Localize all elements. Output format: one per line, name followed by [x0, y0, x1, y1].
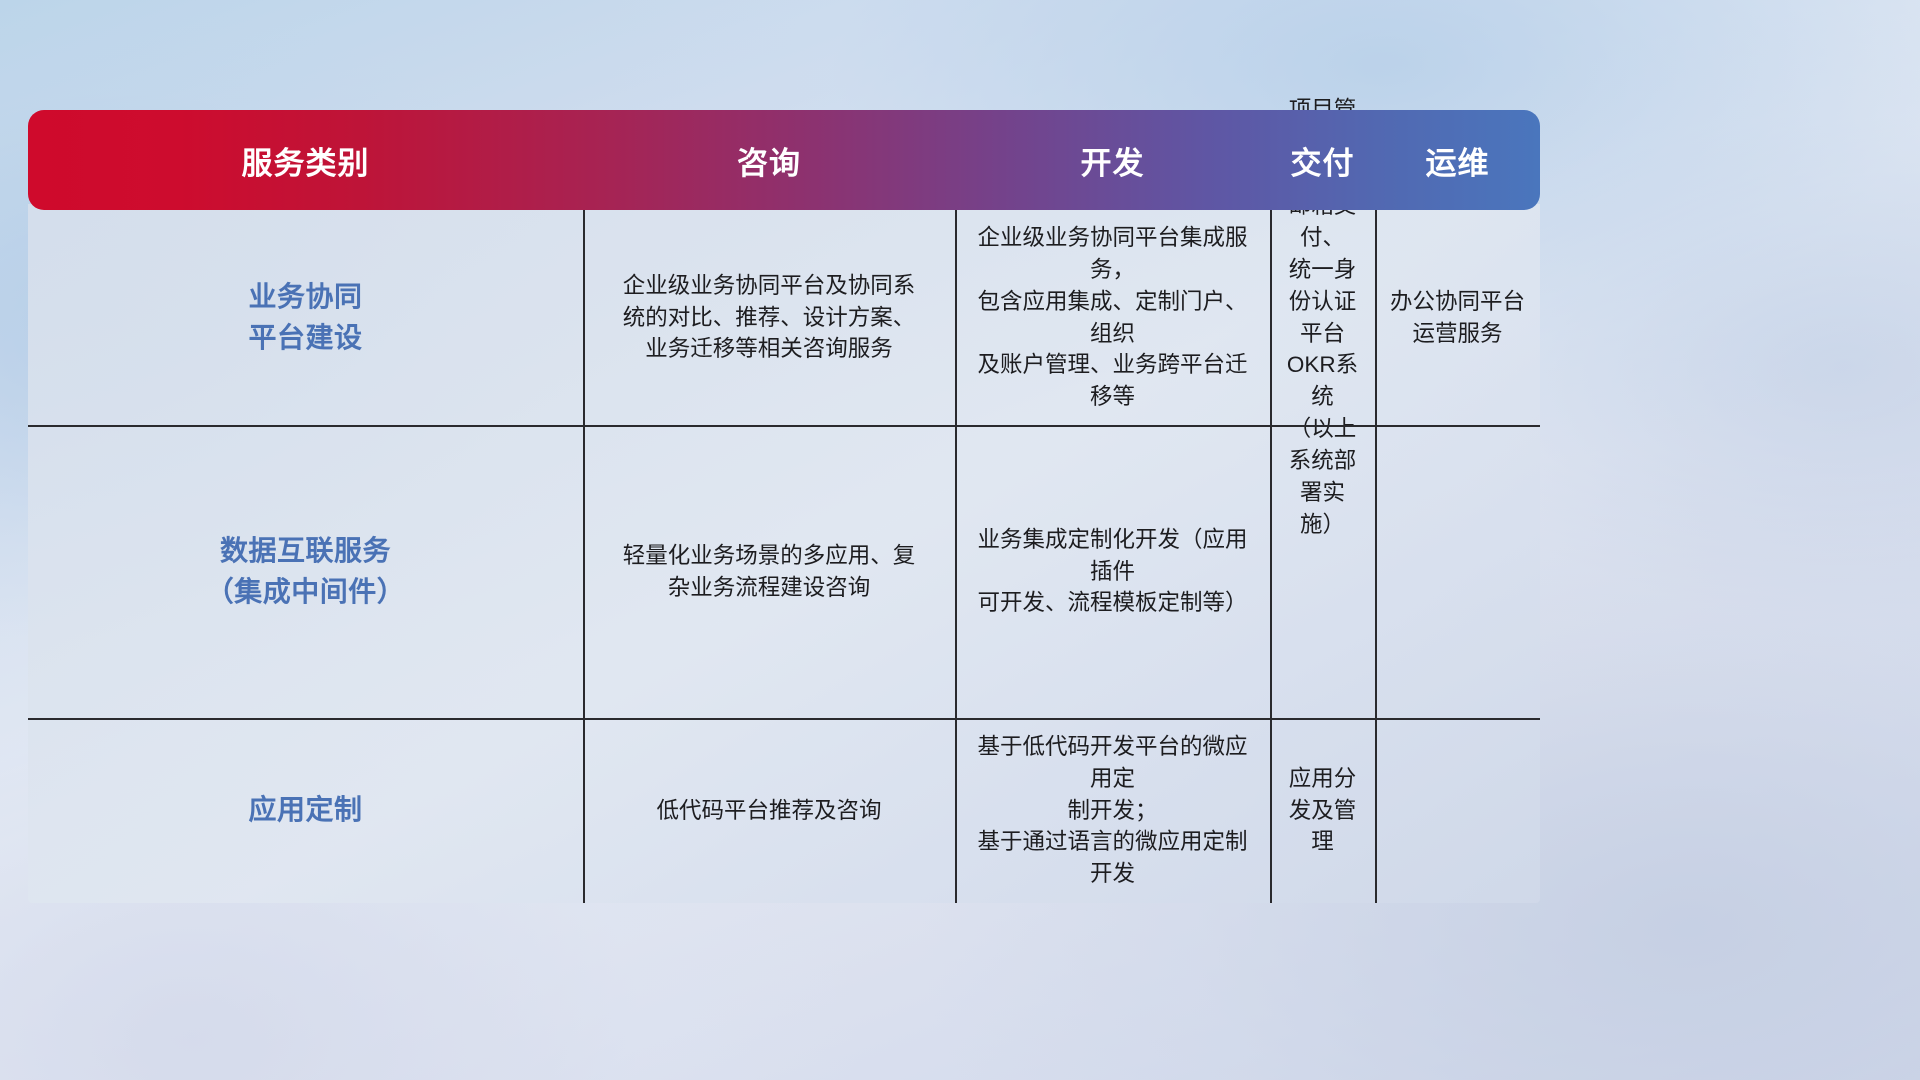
header-cell-development: 开发 [955, 110, 1270, 210]
cell-operations: 办公协同平台运营服务 [1375, 210, 1540, 425]
cell-development: 企业级业务协同平台集成服务， 包含应用集成、定制门户、组织 及账户管理、业务跨平… [955, 210, 1270, 425]
cell-development: 基于低代码开发平台的微应用定 制开发； 基于通过语言的微应用定制开发 [955, 718, 1270, 903]
cell-consulting: 低代码平台推荐及咨询 [583, 718, 955, 903]
cell-category: 业务协同 平台建设 [28, 210, 583, 425]
cell-delivery: 项目管理平台交付 邮箱交付、 统一身份认证平台 OKR系统 （以上系统部署实施） [1270, 210, 1375, 425]
header-cell-service-category: 服务类别 [28, 110, 583, 210]
table-row: 应用定制 低代码平台推荐及咨询 基于低代码开发平台的微应用定 制开发； 基于通过… [28, 718, 1540, 903]
table-row: 数据互联服务 （集成中间件） 轻量化业务场景的多应用、复 杂业务流程建设咨询 业… [28, 425, 1540, 718]
header-cell-operations: 运维 [1375, 110, 1540, 210]
cell-category: 数据互联服务 （集成中间件） [28, 425, 583, 718]
cell-operations [1375, 718, 1540, 903]
cell-development: 业务集成定制化开发（应用插件 可开发、流程模板定制等） [955, 425, 1270, 718]
cell-delivery [1270, 425, 1375, 718]
service-matrix-table: 服务类别 咨询 开发 交付 运维 业务协同 平台建设 企业级业务协同平台及协同系… [28, 110, 1540, 903]
header-cell-delivery: 交付 [1270, 110, 1375, 210]
cell-delivery: 应用分发及管理 [1270, 718, 1375, 903]
cell-category: 应用定制 [28, 718, 583, 903]
table-body: 业务协同 平台建设 企业级业务协同平台及协同系 统的对比、推荐、设计方案、 业务… [28, 204, 1540, 903]
cell-operations [1375, 425, 1540, 718]
table-header-row: 服务类别 咨询 开发 交付 运维 [28, 110, 1540, 210]
table-row: 业务协同 平台建设 企业级业务协同平台及协同系 统的对比、推荐、设计方案、 业务… [28, 210, 1540, 425]
cell-consulting: 轻量化业务场景的多应用、复 杂业务流程建设咨询 [583, 425, 955, 718]
header-cell-consulting: 咨询 [583, 110, 955, 210]
cell-consulting: 企业级业务协同平台及协同系 统的对比、推荐、设计方案、 业务迁移等相关咨询服务 [583, 210, 955, 425]
